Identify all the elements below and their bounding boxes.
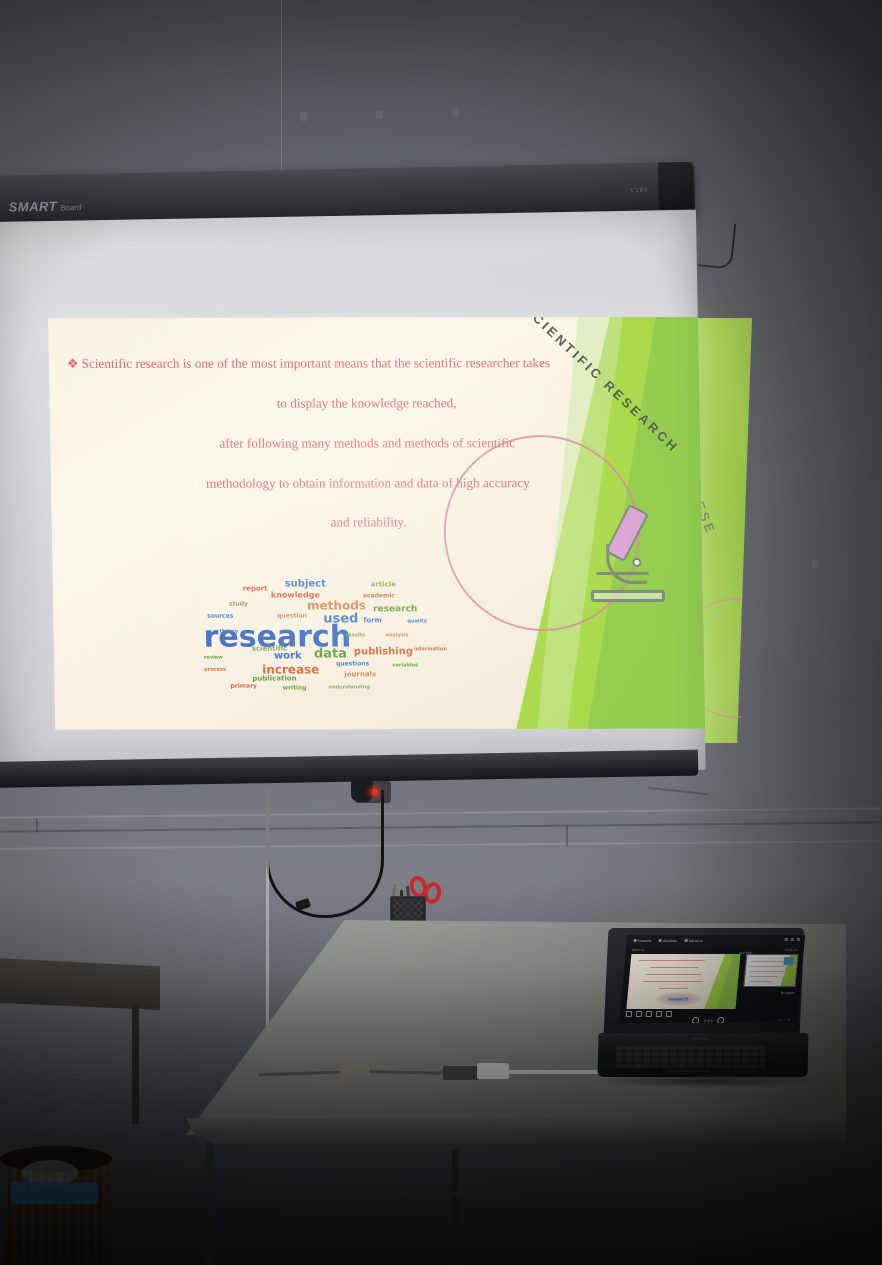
ribbon-item-resume[interactable]: Resume — [633, 939, 651, 943]
word-cloud-term: subject — [285, 579, 326, 589]
slide-line-1: ❖Scientific research is one of the most … — [63, 355, 669, 372]
wall-trunking-joint — [36, 818, 38, 832]
word-cloud-term: publishing — [354, 647, 413, 657]
microscope-base — [591, 590, 665, 602]
casing-model-badge: V280 — [630, 188, 648, 194]
word-cloud-term: data — [314, 647, 347, 660]
word-cloud-term: publication — [252, 676, 296, 683]
word-cloud-term: primary — [230, 684, 257, 690]
presentation-timer: 00:02:14 — [632, 948, 645, 952]
wall-trunking-joint — [566, 826, 568, 846]
pen-icon — [658, 939, 661, 942]
slide-line-2: to display the knowledge reached, — [63, 395, 669, 412]
slide-bullet-icon: ❖ — [67, 356, 79, 371]
slide-line-1-text: Scientific research is one of the most i… — [81, 355, 550, 371]
slide-line-5: and reliability. — [65, 514, 671, 531]
hanging-power-cable — [266, 790, 384, 918]
word-cloud-term: question — [277, 614, 307, 620]
word-cloud-term: process — [204, 668, 226, 673]
word-cloud-term: research — [373, 605, 417, 614]
word-cloud-term: journals — [344, 671, 376, 678]
smart-board-logo: SMARTBoard — [8, 198, 81, 214]
smart-board-brand: SMART — [8, 199, 57, 215]
word-cloud-term: review — [204, 656, 223, 661]
microscope-knob — [632, 558, 641, 567]
word-cloud-term: form — [363, 617, 382, 624]
word-cloud-term: sources — [207, 614, 233, 620]
ribbon-item-resume-label: Resume — [638, 939, 652, 943]
slide-line-3: after following many methods and methods… — [64, 435, 670, 452]
slide-line-4: methodology to obtain information and da… — [65, 474, 671, 491]
projected-slide: SCIENTIFIC RESEARCH ❖Scientific research… — [48, 317, 705, 730]
word-cloud-term: quality — [407, 619, 427, 624]
slide-canvas: SCIENTIFIC RESEARCH ❖Scientific research… — [48, 317, 705, 730]
word-cloud-term: analysis — [386, 633, 409, 638]
word-cloud-term: work — [274, 652, 302, 662]
play-icon — [633, 939, 636, 942]
slide-body-text: ❖Scientific research is one of the most … — [63, 355, 673, 555]
word-cloud-term: scientific — [252, 646, 288, 653]
word-cloud-term: knowledge — [271, 591, 320, 599]
wall-mark — [452, 108, 459, 117]
word-cloud-term: variables — [392, 663, 418, 668]
microscope-stage — [597, 572, 649, 575]
word-cloud-term: academic — [363, 593, 395, 599]
word-cloud-term: study — [229, 602, 248, 608]
word-cloud-term: methods — [307, 599, 366, 611]
word-cloud-term: article — [371, 581, 396, 588]
word-cloud-term: used — [323, 612, 358, 625]
wall-mark — [300, 112, 307, 121]
word-cloud-term: understanding — [328, 685, 369, 690]
word-cloud-term: theory — [219, 630, 238, 635]
word-cloud-image: researchmethodsusedsubjectknowledgeartic… — [184, 567, 468, 692]
word-cloud-term: questions — [336, 661, 369, 667]
smart-board-sub: Board — [60, 203, 82, 212]
word-cloud-term: writing — [282, 686, 306, 692]
wall-mark — [376, 110, 383, 119]
word-cloud-term: results — [346, 633, 366, 638]
classroom-scene: C RESE SMARTBoard V280 SCIENTIFIC RESEAR… — [0, 0, 882, 1265]
word-cloud-term: report — [243, 586, 268, 593]
room-shadow-bottom — [0, 965, 882, 1265]
word-cloud-term: information — [414, 647, 447, 652]
